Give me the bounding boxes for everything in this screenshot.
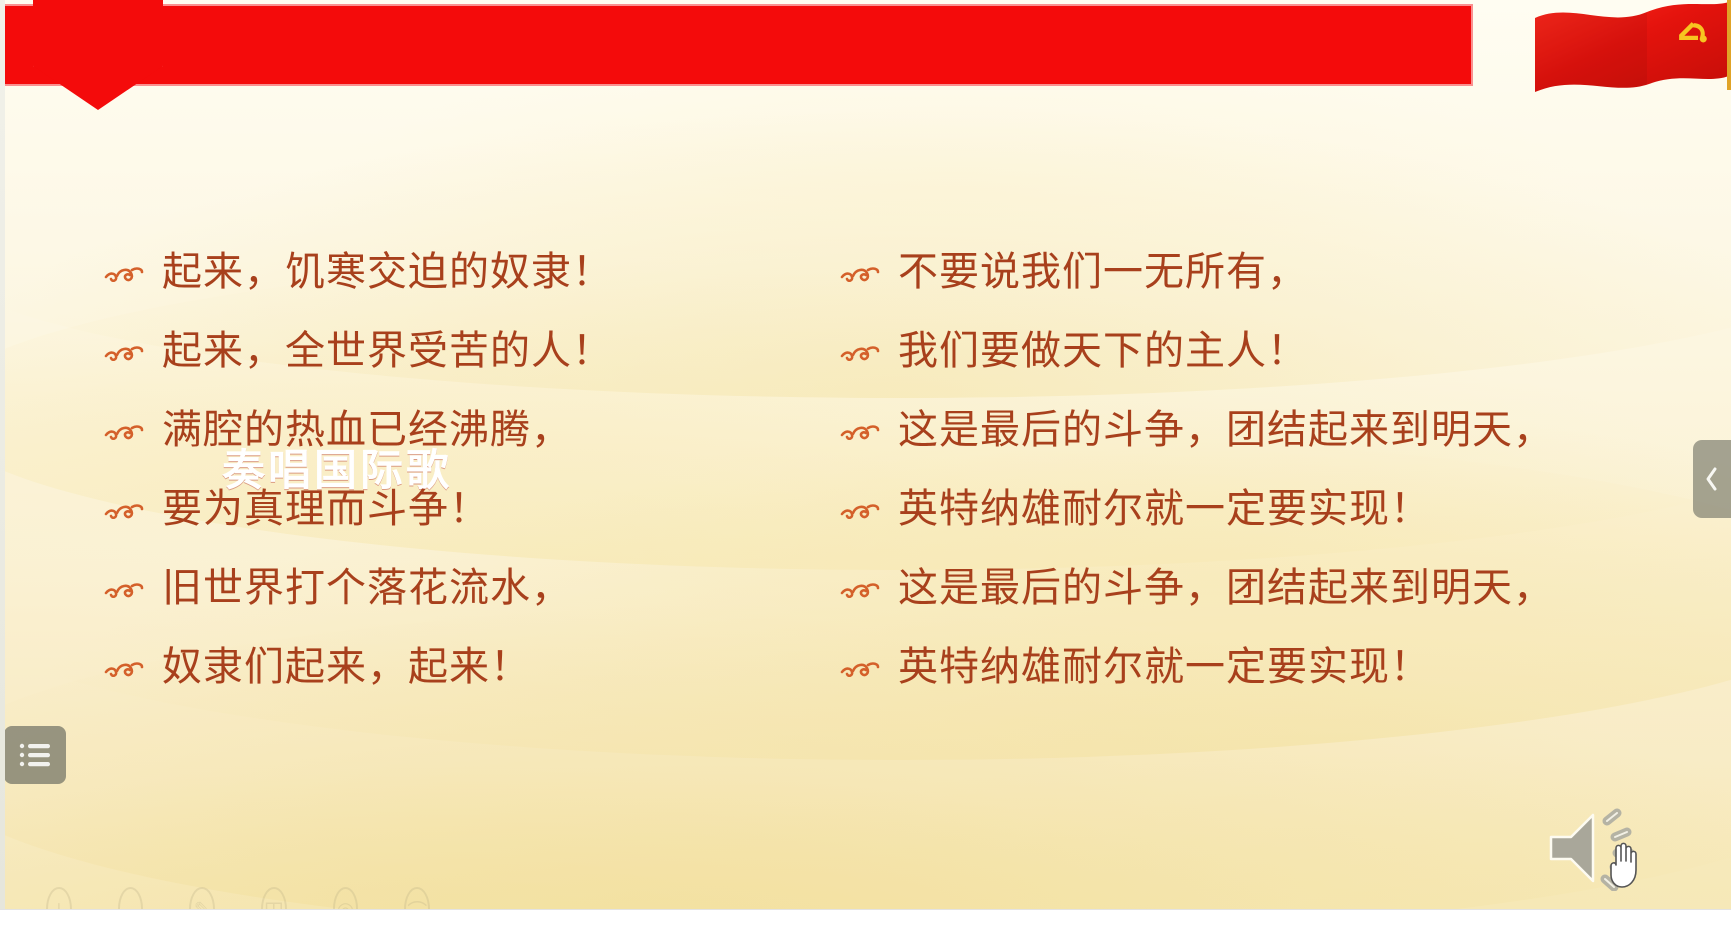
collapse-panel-button[interactable] (1693, 440, 1731, 518)
cloud-scroll-icon (104, 263, 150, 285)
list-item: 起来，饥寒交迫的奴隶！ (104, 232, 760, 311)
lyrics-right-column: 不要说我们一无所有， 我们要做天下的主人！ (760, 232, 1731, 712)
lyric-text: 这是最后的斗争，团结起来到明天， (898, 410, 1554, 450)
list-item: 起来，全世界受苦的人！ (104, 311, 760, 390)
cloud-scroll-icon (840, 579, 886, 601)
lyric-text: 起来，饥寒交迫的奴隶！ (162, 252, 613, 292)
party-flag-icon (1531, 0, 1731, 112)
cloud-scroll-icon (840, 342, 886, 364)
list-item: 这是最后的斗争，团结起来到明天， (840, 548, 1731, 627)
banner-inner-border (0, 4, 1473, 86)
list-item: 英特纳雄耐尔就一定要实现！ (840, 469, 1731, 548)
lyric-text: 满腔的热血已经沸腾， (162, 410, 572, 450)
cloud-scroll-icon (104, 658, 150, 680)
window-bottom-strip (0, 909, 1731, 933)
chevron-left-icon (1703, 465, 1721, 493)
cloud-scroll-icon (840, 658, 886, 680)
list-item: 奴隶们起来，起来！ (104, 627, 760, 706)
lyric-text: 不要说我们一无所有， (898, 252, 1308, 292)
list-item: 这是最后的斗争，团结起来到明天， (840, 390, 1731, 469)
cloud-scroll-icon (104, 579, 150, 601)
slide-title-banner (0, 4, 1473, 86)
list-item: 要为真理而斗争！ (104, 469, 760, 548)
cloud-scroll-icon (840, 500, 886, 522)
presentation-slide: 奏唱国际歌 (0, 0, 1731, 933)
list-item: 不要说我们一无所有， (840, 232, 1731, 311)
bottom-toolbar-icons[interactable]: ＋ － ✎ 田 ◎ ⌒ (0, 881, 430, 909)
lyric-text: 英特纳雄耐尔就一定要实现！ (898, 647, 1431, 687)
cloud-scroll-icon (840, 263, 886, 285)
page-left-edge (0, 0, 5, 909)
list-item: 满腔的热血已经沸腾， (104, 390, 760, 469)
lyric-text: 这是最后的斗争，团结起来到明天， (898, 568, 1554, 608)
lyric-text: 旧世界打个落花流水， (162, 568, 572, 608)
cloud-scroll-icon (840, 421, 886, 443)
lyrics-left-column: 起来，饥寒交迫的奴隶！ 起来，全世界受苦的人！ (0, 232, 760, 712)
lyric-text: 起来，全世界受苦的人！ (162, 331, 613, 371)
list-item: 旧世界打个落花流水， (104, 548, 760, 627)
lyric-text: 英特纳雄耐尔就一定要实现！ (898, 489, 1431, 529)
slide-list-toggle-button[interactable] (4, 726, 66, 784)
lyrics-area: 起来，饥寒交迫的奴隶！ 起来，全世界受苦的人！ (0, 232, 1731, 712)
list-item: 我们要做天下的主人！ (840, 311, 1731, 390)
lyric-text: 我们要做天下的主人！ (898, 331, 1308, 371)
cloud-scroll-icon (104, 342, 150, 364)
pennant-shape (33, 0, 163, 110)
list-item: 英特纳雄耐尔就一定要实现！ (840, 627, 1731, 706)
cloud-scroll-icon (104, 421, 150, 443)
hand-pointer-cursor (1603, 835, 1649, 891)
lyric-text: 要为真理而斗争！ (162, 489, 490, 529)
list-icon (18, 742, 52, 768)
lyric-text: 奴隶们起来，起来！ (162, 647, 531, 687)
cloud-scroll-icon (104, 500, 150, 522)
